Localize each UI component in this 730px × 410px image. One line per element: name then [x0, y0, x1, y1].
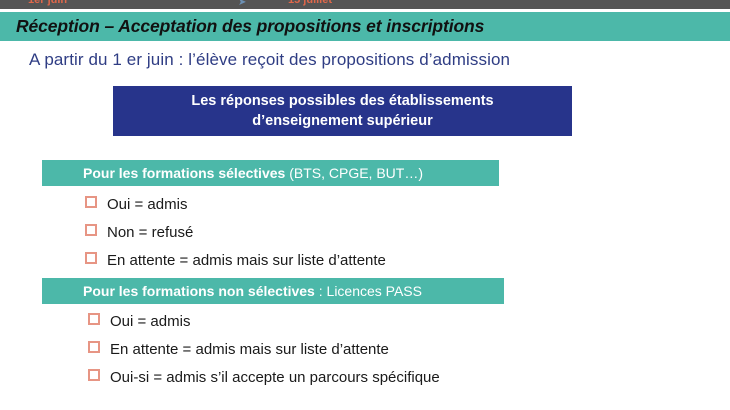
slide-title-band: Réception – Acceptation des propositions… — [0, 12, 730, 41]
square-bullet-icon — [85, 224, 97, 236]
square-bullet-icon — [88, 369, 100, 381]
section-header-selective-strong: Pour les formations sélectives — [83, 165, 285, 181]
section-header-non-selective: Pour les formations non sélectives : Lic… — [42, 278, 504, 304]
page-title: Réception – Acceptation des propositions… — [16, 16, 484, 37]
square-bullet-icon — [88, 313, 100, 325]
list-item: Oui = admis — [85, 196, 386, 213]
intro-text: A partir du 1 er juin : l’élève reçoit d… — [29, 50, 510, 70]
callout-box: Les réponses possibles des établissement… — [113, 86, 572, 136]
list-item: En attente = admis mais sur liste d’atte… — [88, 341, 440, 358]
section-header-selective: Pour les formations sélectives (BTS, CPG… — [42, 160, 499, 186]
list-item: Oui-si = admis s’il accepte un parcours … — [88, 369, 440, 386]
square-bullet-icon — [88, 341, 100, 353]
list-item-label: Non = refusé — [107, 224, 193, 241]
bullet-list-non-selective: Oui = admis En attente = admis mais sur … — [88, 313, 440, 397]
section-header-non-selective-strong: Pour les formations non sélectives — [83, 283, 315, 299]
list-item: Non = refusé — [85, 224, 386, 241]
list-item-label: Oui-si = admis s’il accepte un parcours … — [110, 369, 440, 386]
section-header-non-selective-normal: : Licences PASS — [315, 283, 422, 299]
bullet-list-selective: Oui = admis Non = refusé En attente = ad… — [85, 196, 386, 280]
square-bullet-icon — [85, 196, 97, 208]
section-header-selective-normal: (BTS, CPGE, BUT…) — [285, 165, 423, 181]
timeline-end-date: 15 juillet — [288, 0, 332, 7]
callout-line-2: d’enseignement supérieur — [252, 111, 433, 131]
square-bullet-icon — [85, 252, 97, 264]
list-item-label: Oui = admis — [107, 196, 187, 213]
arrow-right-icon: ➤ — [238, 0, 246, 9]
list-item-label: En attente = admis mais sur liste d’atte… — [107, 252, 386, 269]
list-item: En attente = admis mais sur liste d’atte… — [85, 252, 386, 269]
list-item: Oui = admis — [88, 313, 440, 330]
timeline-start-date: 1er juin — [28, 0, 67, 7]
list-item-label: En attente = admis mais sur liste d’atte… — [110, 341, 389, 358]
timeline-strip: 1er juin ➤ 15 juillet — [0, 0, 730, 9]
list-item-label: Oui = admis — [110, 313, 190, 330]
callout-line-1: Les réponses possibles des établissement… — [191, 91, 493, 111]
